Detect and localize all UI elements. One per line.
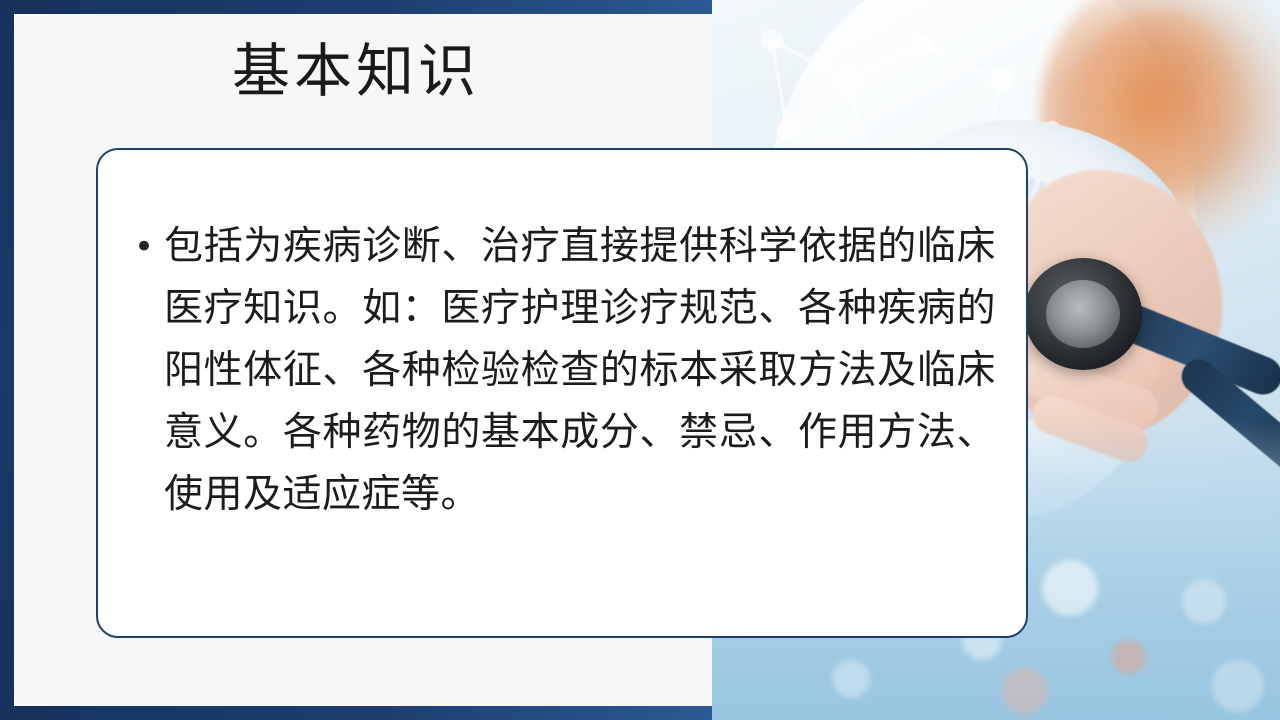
bullet-marker-icon: •	[134, 216, 164, 278]
bokeh-light	[1042, 560, 1098, 616]
frame-left-bar	[0, 0, 14, 720]
bullet-text: 包括为疾病诊断、治疗直接提供科学依据的临床医疗知识。如：医疗护理诊疗规范、各种疾…	[164, 216, 996, 526]
bokeh-light	[1182, 580, 1226, 624]
bokeh-light	[832, 660, 870, 698]
content-card: • 包括为疾病诊断、治疗直接提供科学依据的临床医疗知识。如：医疗护理诊疗规范、各…	[96, 148, 1028, 638]
frame-top-bar	[0, 0, 712, 14]
bokeh-light	[1212, 660, 1264, 712]
bokeh-light	[1002, 668, 1048, 714]
page-title: 基本知识	[14, 40, 698, 104]
slide: 基本知识 • 包括为疾病诊断、治疗直接提供科学依据的临床医疗知识。如：医疗护理诊…	[0, 0, 1280, 720]
stethoscope-diaphragm-shape	[1046, 280, 1120, 348]
bokeh-light	[1112, 640, 1146, 674]
frame-bottom-bar	[0, 706, 712, 720]
list-item: • 包括为疾病诊断、治疗直接提供科学依据的临床医疗知识。如：医疗护理诊疗规范、各…	[134, 216, 996, 526]
